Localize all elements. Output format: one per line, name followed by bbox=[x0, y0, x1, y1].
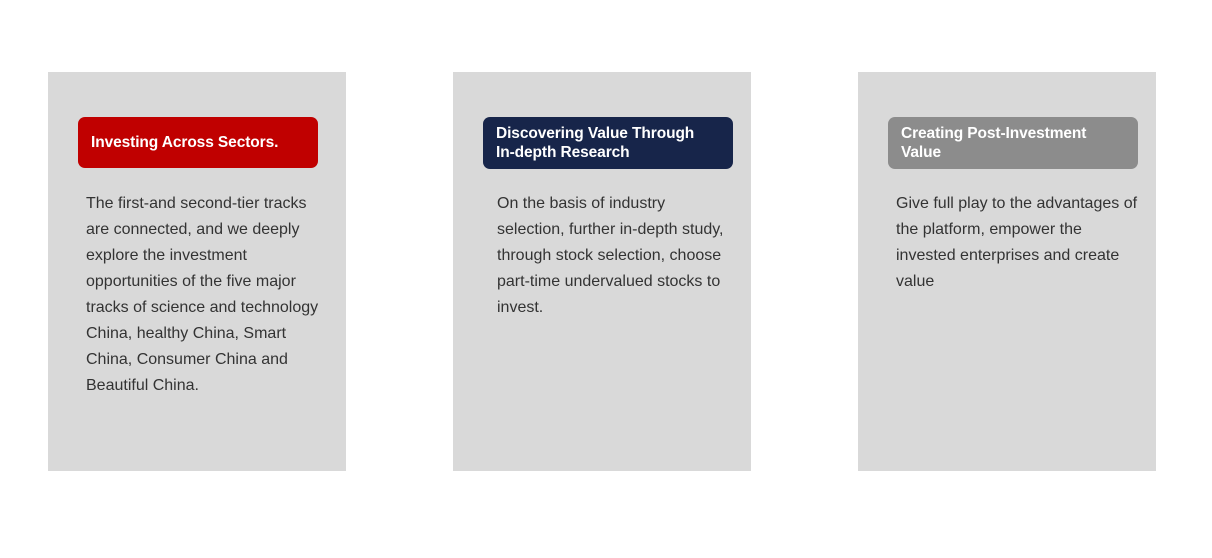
card-body-text: Give full play to the advantages of the … bbox=[896, 191, 1138, 295]
card-investing-across-sectors: Investing Across Sectors. The first-and … bbox=[48, 72, 346, 471]
card-header-badge-navy: Discovering Value Through In-depth Resea… bbox=[483, 117, 733, 169]
card-title: Discovering Value Through In-depth Resea… bbox=[496, 124, 694, 162]
card-title: Creating Post-Investment Value bbox=[901, 124, 1086, 162]
card-title: Investing Across Sectors. bbox=[91, 133, 278, 152]
card-body-text: The first-and second-tier tracks are con… bbox=[86, 191, 326, 399]
card-body-text: On the basis of industry selection, furt… bbox=[497, 191, 729, 321]
slide-canvas: Investing Across Sectors. The first-and … bbox=[0, 0, 1212, 558]
card-discovering-value-through-in-depth-research: Discovering Value Through In-depth Resea… bbox=[453, 72, 751, 471]
card-header-badge-red: Investing Across Sectors. bbox=[78, 117, 318, 168]
card-creating-post-investment-value: Creating Post-Investment Value Give full… bbox=[858, 72, 1156, 471]
card-header-badge-gray: Creating Post-Investment Value bbox=[888, 117, 1138, 169]
